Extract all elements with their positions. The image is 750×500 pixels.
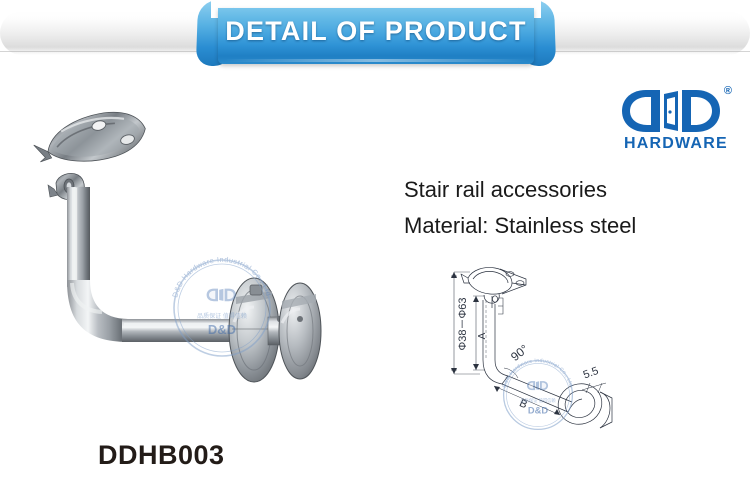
dim-thickness-label: 5.5 (582, 365, 600, 382)
dd-monogram-icon: ® (620, 88, 732, 134)
product-description: Stair rail accessories Material: Stainle… (404, 172, 744, 244)
product-code: DDHB003 (98, 440, 225, 471)
banner-title: DETAIL OF PRODUCT (197, 0, 555, 62)
detail-banner: DETAIL OF PRODUCT (197, 0, 555, 72)
product-photo (10, 95, 340, 395)
brand-logo: ® HARDWARE (620, 88, 740, 158)
dim-a-label: A (477, 332, 488, 339)
logo-wordmark: HARDWARE (624, 135, 728, 153)
description-line-2: Material: Stainless steel (404, 208, 744, 244)
dim-b-label: B (517, 397, 529, 411)
description-line-1: Stair rail accessories (404, 172, 744, 208)
dim-tube-label: Φ38－Φ63 (457, 297, 469, 350)
product-detail-page: DETAIL OF PRODUCT ® HARDWARE Stair rail … (0, 0, 750, 500)
registered-trademark-icon: ® (724, 85, 732, 97)
dim-angle-label: 90° (508, 342, 531, 364)
technical-drawing: Φ38－Φ63 A B 90° 5.5 (440, 252, 620, 432)
